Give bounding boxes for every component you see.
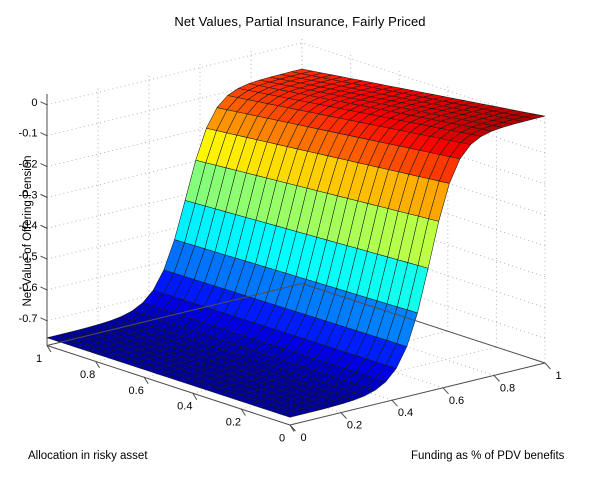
svg-text:0.4: 0.4 — [177, 401, 192, 413]
svg-text:0.4: 0.4 — [398, 407, 413, 419]
svg-text:0.2: 0.2 — [347, 420, 362, 432]
chart-title: Net Values, Partial Insurance, Fairly Pr… — [0, 14, 600, 29]
svg-text:0: 0 — [31, 97, 37, 109]
svg-text:0.8: 0.8 — [80, 369, 95, 381]
svg-text:0.2: 0.2 — [226, 417, 241, 429]
z-axis-label: Net Value of Offering Pension — [22, 141, 34, 321]
svg-text:1: 1 — [555, 370, 561, 382]
surface-mesh — [47, 69, 545, 417]
y-axis-label: Allocation in risky asset — [28, 450, 148, 462]
figure-canvas: Net Values, Partial Insurance, Fairly Pr… — [0, 0, 600, 480]
surface-plot-3d: 00.20.40.60.8100.20.40.60.810-0.1-0.2-0.… — [0, 0, 600, 480]
svg-text:0: 0 — [279, 433, 285, 445]
svg-text:0: 0 — [300, 432, 306, 444]
svg-text:1: 1 — [36, 353, 42, 365]
svg-text:0.6: 0.6 — [449, 395, 464, 407]
svg-text:-0.1: -0.1 — [19, 128, 38, 140]
svg-text:0.6: 0.6 — [129, 385, 144, 397]
x-axis-label: Funding as % of PDV benefits — [411, 450, 564, 462]
svg-text:0.8: 0.8 — [500, 382, 515, 394]
